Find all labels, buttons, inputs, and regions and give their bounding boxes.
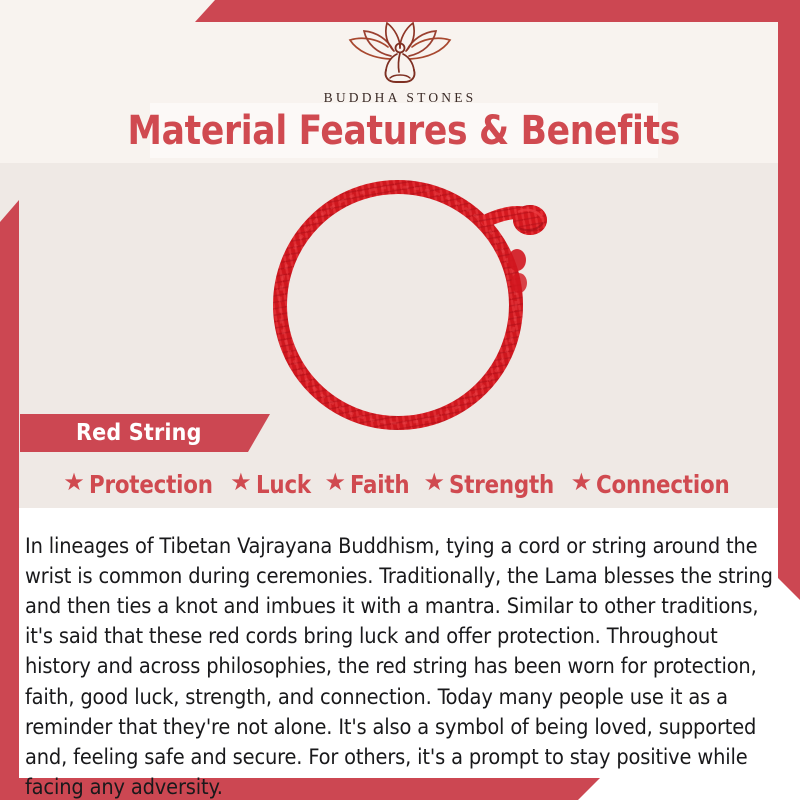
feature-item-faith: ★ Faith xyxy=(324,470,412,499)
material-label-banner: Red String xyxy=(20,414,270,452)
feature-label-strength: Strength xyxy=(449,470,554,499)
feature-item-protection: ★ Protection xyxy=(63,470,219,499)
material-label: Red String xyxy=(76,420,202,446)
feature-item-strength: ★ Strength xyxy=(424,470,560,499)
feature-list: ★ Protection ★ Luck ★ Faith ★ Strength ★… xyxy=(22,466,778,502)
feature-label-luck: Luck xyxy=(256,470,311,499)
brand-logo: BUDDHA STONES xyxy=(0,16,800,106)
product-photo xyxy=(230,168,575,430)
star-icon: ★ xyxy=(230,471,252,495)
star-icon: ★ xyxy=(571,471,593,495)
description-paragraph: In lineages of Tibetan Vajrayana Buddhis… xyxy=(25,532,773,800)
lotus-meditation-icon xyxy=(342,16,458,88)
decorative-left-bar xyxy=(0,200,19,800)
feature-label-connection: Connection xyxy=(596,470,729,499)
product-feature-poster: BUDDHA STONES Material Features & Benefi… xyxy=(0,0,800,800)
star-icon: ★ xyxy=(424,471,446,495)
feature-item-connection: ★ Connection xyxy=(571,470,737,499)
feature-label-protection: Protection xyxy=(89,470,213,499)
star-icon: ★ xyxy=(324,471,346,495)
page-title: Material Features & Benefits xyxy=(128,111,680,151)
star-icon: ★ xyxy=(63,471,85,495)
feature-label-faith: Faith xyxy=(350,470,409,499)
title-banner: Material Features & Benefits xyxy=(150,103,658,158)
feature-item-luck: ★ Luck xyxy=(230,470,313,499)
